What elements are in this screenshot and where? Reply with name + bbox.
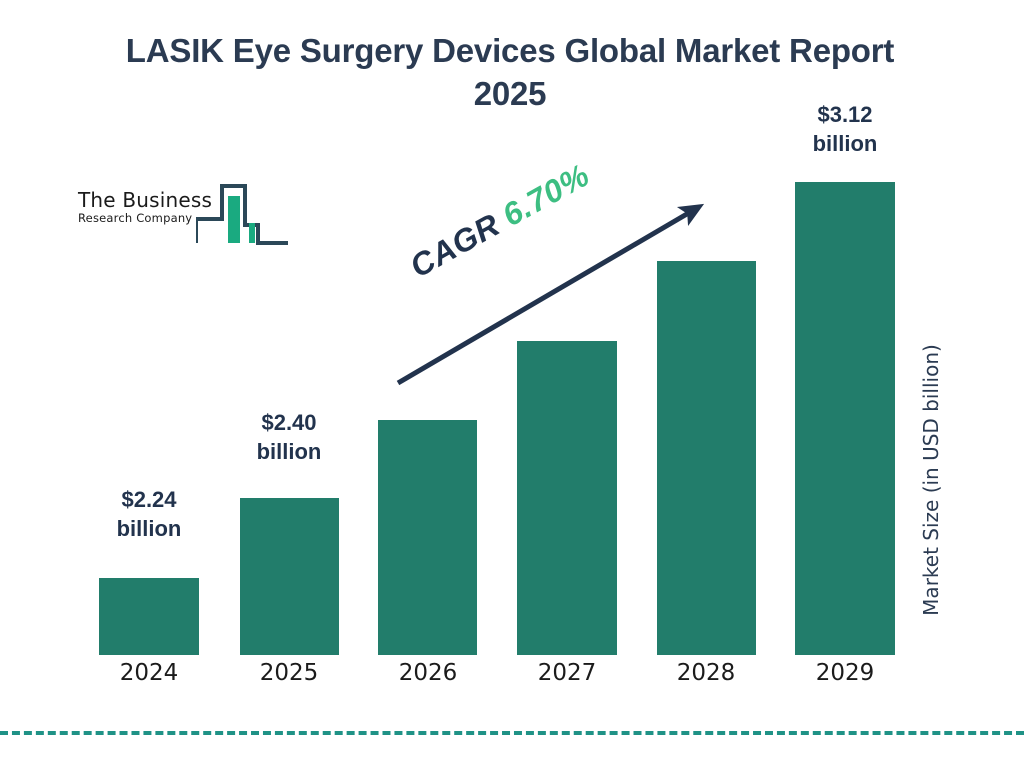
cagr-word: CAGR xyxy=(404,206,506,284)
cagr-value: 6.70% xyxy=(496,157,595,234)
bar-2028 xyxy=(657,261,756,655)
bar-value-2025: $2.40 billion xyxy=(219,408,359,466)
bar-value-2025-line1: $2.40 xyxy=(219,408,359,437)
bar-2027 xyxy=(517,341,617,655)
chart-canvas: LASIK Eye Surgery Devices Global Market … xyxy=(0,0,1024,768)
bar-2025 xyxy=(240,498,339,655)
bar-value-2024: $2.24 billion xyxy=(79,485,219,543)
bar-2029 xyxy=(795,182,895,655)
bar-2026 xyxy=(378,420,477,655)
x-tick-2024: 2024 xyxy=(84,660,214,686)
bar-value-2025-line2: billion xyxy=(219,437,359,466)
bar-value-2024-line1: $2.24 xyxy=(79,485,219,514)
bar-value-2029-line2: billion xyxy=(775,129,915,158)
y-axis-title-text: Market Size (in USD billion) xyxy=(919,344,943,616)
cagr-label: CAGR 6.70% xyxy=(404,157,596,286)
y-axis-title: Market Size (in USD billion) xyxy=(908,300,954,660)
bar-value-2029: $3.12 billion xyxy=(775,100,915,158)
plot-area: $2.24 billion $2.40 billion $3.12 billio… xyxy=(0,0,1024,768)
x-tick-2027: 2027 xyxy=(502,660,632,686)
footer-divider xyxy=(0,731,1024,735)
bar-2024 xyxy=(99,578,199,655)
x-tick-2025: 2025 xyxy=(224,660,354,686)
x-tick-2028: 2028 xyxy=(641,660,771,686)
x-tick-2026: 2026 xyxy=(363,660,493,686)
bar-value-2029-line1: $3.12 xyxy=(775,100,915,129)
x-tick-2029: 2029 xyxy=(780,660,910,686)
bar-value-2024-line2: billion xyxy=(79,514,219,543)
